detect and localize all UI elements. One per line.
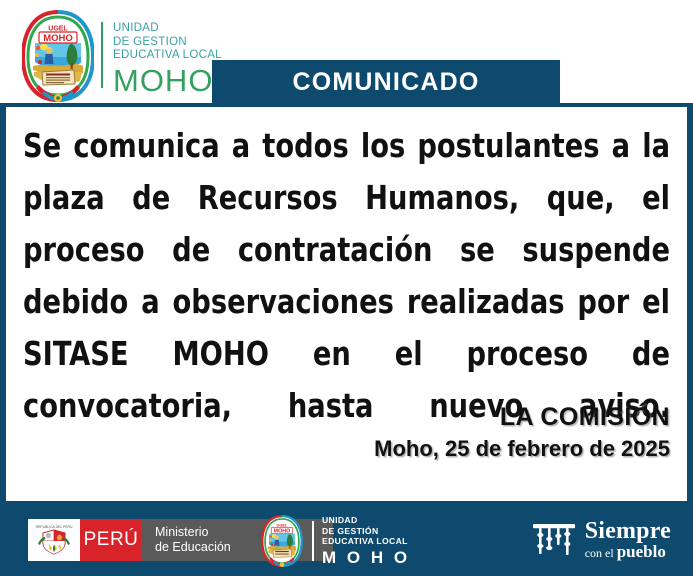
ugel-moho-emblem-icon: UGEL MOHO (22, 10, 94, 102)
footer-ugel-text: UNIDAD DE GESTIÓN EDUCATIVA LOCAL M O H … (322, 515, 410, 566)
comunicado-poster: UGEL MOHO UNIDAD DE GESTION EDUCATIVA LO… (0, 0, 693, 576)
footer-ugel-logo: UGEL MOHO UNIDAD DE GESTIÓN EDUCATIVA LO… (256, 515, 410, 567)
comunicado-banner: COMUNICADO (212, 60, 560, 105)
footer-emblem-moho-text: MOHO (274, 528, 291, 534)
slogan-line-2-bold: pueblo (617, 542, 666, 561)
slogan-block: Siempre con el pueblo (530, 519, 671, 563)
ugel-moho-emblem-footer-icon: UGEL MOHO (256, 515, 308, 567)
footer: REPUBLICA DEL PERU PERÚ Ministerio de Ed… (0, 505, 693, 576)
content-frame: Se comunica a todos los postulantes a la… (0, 103, 693, 505)
peru-coat-of-arms-icon: REPUBLICA DEL PERU (28, 519, 80, 561)
content-area: Se comunica a todos los postulantes a la… (6, 107, 687, 501)
header: UGEL MOHO UNIDAD DE GESTION EDUCATIVA LO… (0, 0, 693, 105)
footer-ugel-divider (312, 521, 314, 561)
footer-ugel-line-1: UNIDAD (322, 515, 410, 525)
quipu-icon (530, 520, 578, 562)
signature-place-date: Moho, 25 de febrero de 2025 (374, 435, 670, 462)
org-line-1: UNIDAD (113, 22, 253, 36)
header-divider (101, 22, 103, 88)
signature-block: LA COMISIÓN Moho, 25 de febrero de 2025 (374, 402, 670, 462)
slogan-line-2: con el pueblo (585, 543, 671, 562)
slogan-line-1: Siempre (585, 520, 671, 543)
emblem-moho-text: MOHO (43, 33, 73, 44)
peru-label: PERÚ (80, 519, 142, 561)
org-line-2: DE GESTION (113, 36, 253, 50)
slogan-text: Siempre con el pueblo (585, 520, 671, 562)
signature-commission: LA COMISIÓN (374, 402, 670, 432)
svg-text:REPUBLICA DEL PERU: REPUBLICA DEL PERU (36, 525, 73, 529)
footer-ugel-line-2: DE GESTIÓN (322, 526, 410, 536)
banner-title: COMUNICADO (212, 60, 560, 105)
footer-ugel-line-3: EDUCATIVA LOCAL (322, 536, 410, 546)
footer-emblem-ugel-text: UGEL (277, 523, 289, 528)
footer-ugel-name: M O H O (322, 548, 410, 567)
slogan-line-2-small: con el (585, 546, 617, 560)
